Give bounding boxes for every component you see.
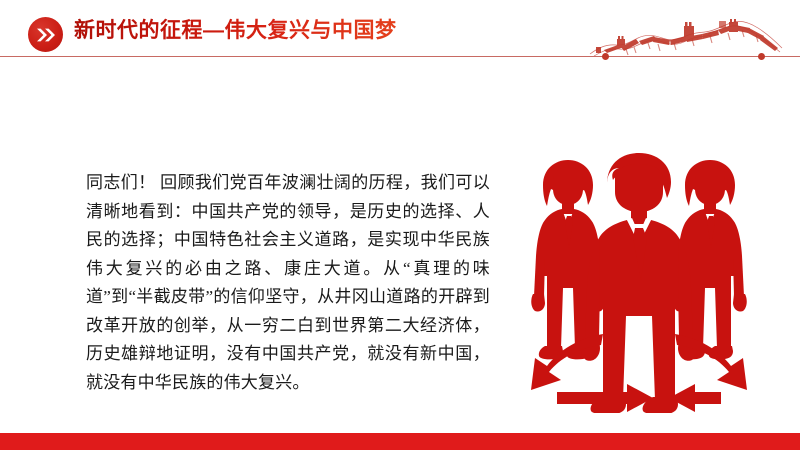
slide-header: 新时代的征程—伟大复兴与中国梦: [0, 0, 800, 70]
footer-accent-bar: [0, 433, 800, 450]
double-chevron-right-icon: [28, 17, 63, 52]
three-business-people-icon: [503, 148, 775, 413]
presentation-slide: 新时代的征程—伟大复兴与中国梦: [0, 0, 800, 450]
great-wall-icon: [588, 4, 784, 58]
page-title: 新时代的征程—伟大复兴与中国梦: [74, 16, 397, 46]
body-paragraph: 同志们！ 回顾我们党百年波澜壮阔的历程，我们可以清晰地看到：中国共产党的领导，是…: [86, 169, 490, 397]
